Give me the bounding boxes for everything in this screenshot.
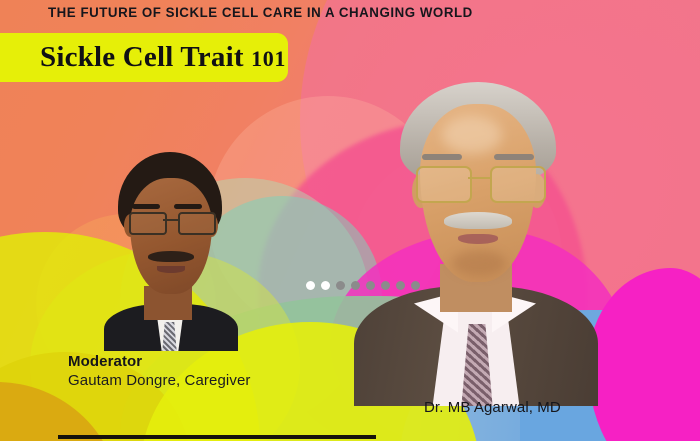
moderator-eyeglasses-icon <box>126 212 216 232</box>
page-title: Sickle Cell Trait 101 <box>40 41 286 74</box>
moderator-lens-right <box>178 212 216 235</box>
moderator-name-label: Gautam Dongre, Caregiver <box>68 371 250 390</box>
series-eyebrow-title: THE FUTURE OF SICKLE CELL CARE IN A CHAN… <box>48 5 473 20</box>
moderator-role-label: Moderator <box>68 352 250 371</box>
speaker-brow-left <box>422 154 462 160</box>
dot-2-icon <box>321 281 330 290</box>
moderator-face <box>130 178 212 294</box>
speaker-lens-left <box>416 166 472 203</box>
moderator-mustache <box>148 251 194 262</box>
title-number-text: 101 <box>251 46 286 71</box>
moderator-credit: Moderator Gautam Dongre, Caregiver <box>68 352 250 390</box>
speaker-lens-right <box>490 166 546 203</box>
speaker-mouth <box>458 234 498 244</box>
bottom-divider <box>58 435 376 439</box>
title-main-text: Sickle Cell Trait <box>40 41 251 73</box>
speaker-name-label: Dr. MB Agarwal, MD <box>424 399 561 416</box>
moderator-lens-left <box>129 212 167 235</box>
dot-1-icon <box>306 281 315 290</box>
moderator-head <box>112 152 228 302</box>
moderator-mouth <box>157 266 185 273</box>
speaker-glasses-bridge <box>468 177 490 179</box>
speaker-head <box>400 82 556 298</box>
webinar-promo-poster: THE FUTURE OF SICKLE CELL CARE IN A CHAN… <box>0 0 700 441</box>
speaker-forehead-highlight <box>442 116 502 154</box>
speaker-brow-right <box>494 154 534 160</box>
speaker-portrait <box>352 74 600 406</box>
speaker-chin-shadow <box>452 250 506 276</box>
dot-3-icon <box>336 281 345 290</box>
gold-wedge-shape <box>0 382 120 441</box>
moderator-brow-left <box>132 204 160 209</box>
moderator-portrait <box>96 146 244 351</box>
speaker-eyeglasses-icon <box>412 166 546 200</box>
speaker-mustache <box>444 212 512 229</box>
title-badge: Sickle Cell Trait 101 <box>0 33 288 82</box>
moderator-brow-right <box>174 204 202 209</box>
magenta-right-blob <box>588 268 700 441</box>
moderator-glasses-bridge <box>163 219 178 221</box>
